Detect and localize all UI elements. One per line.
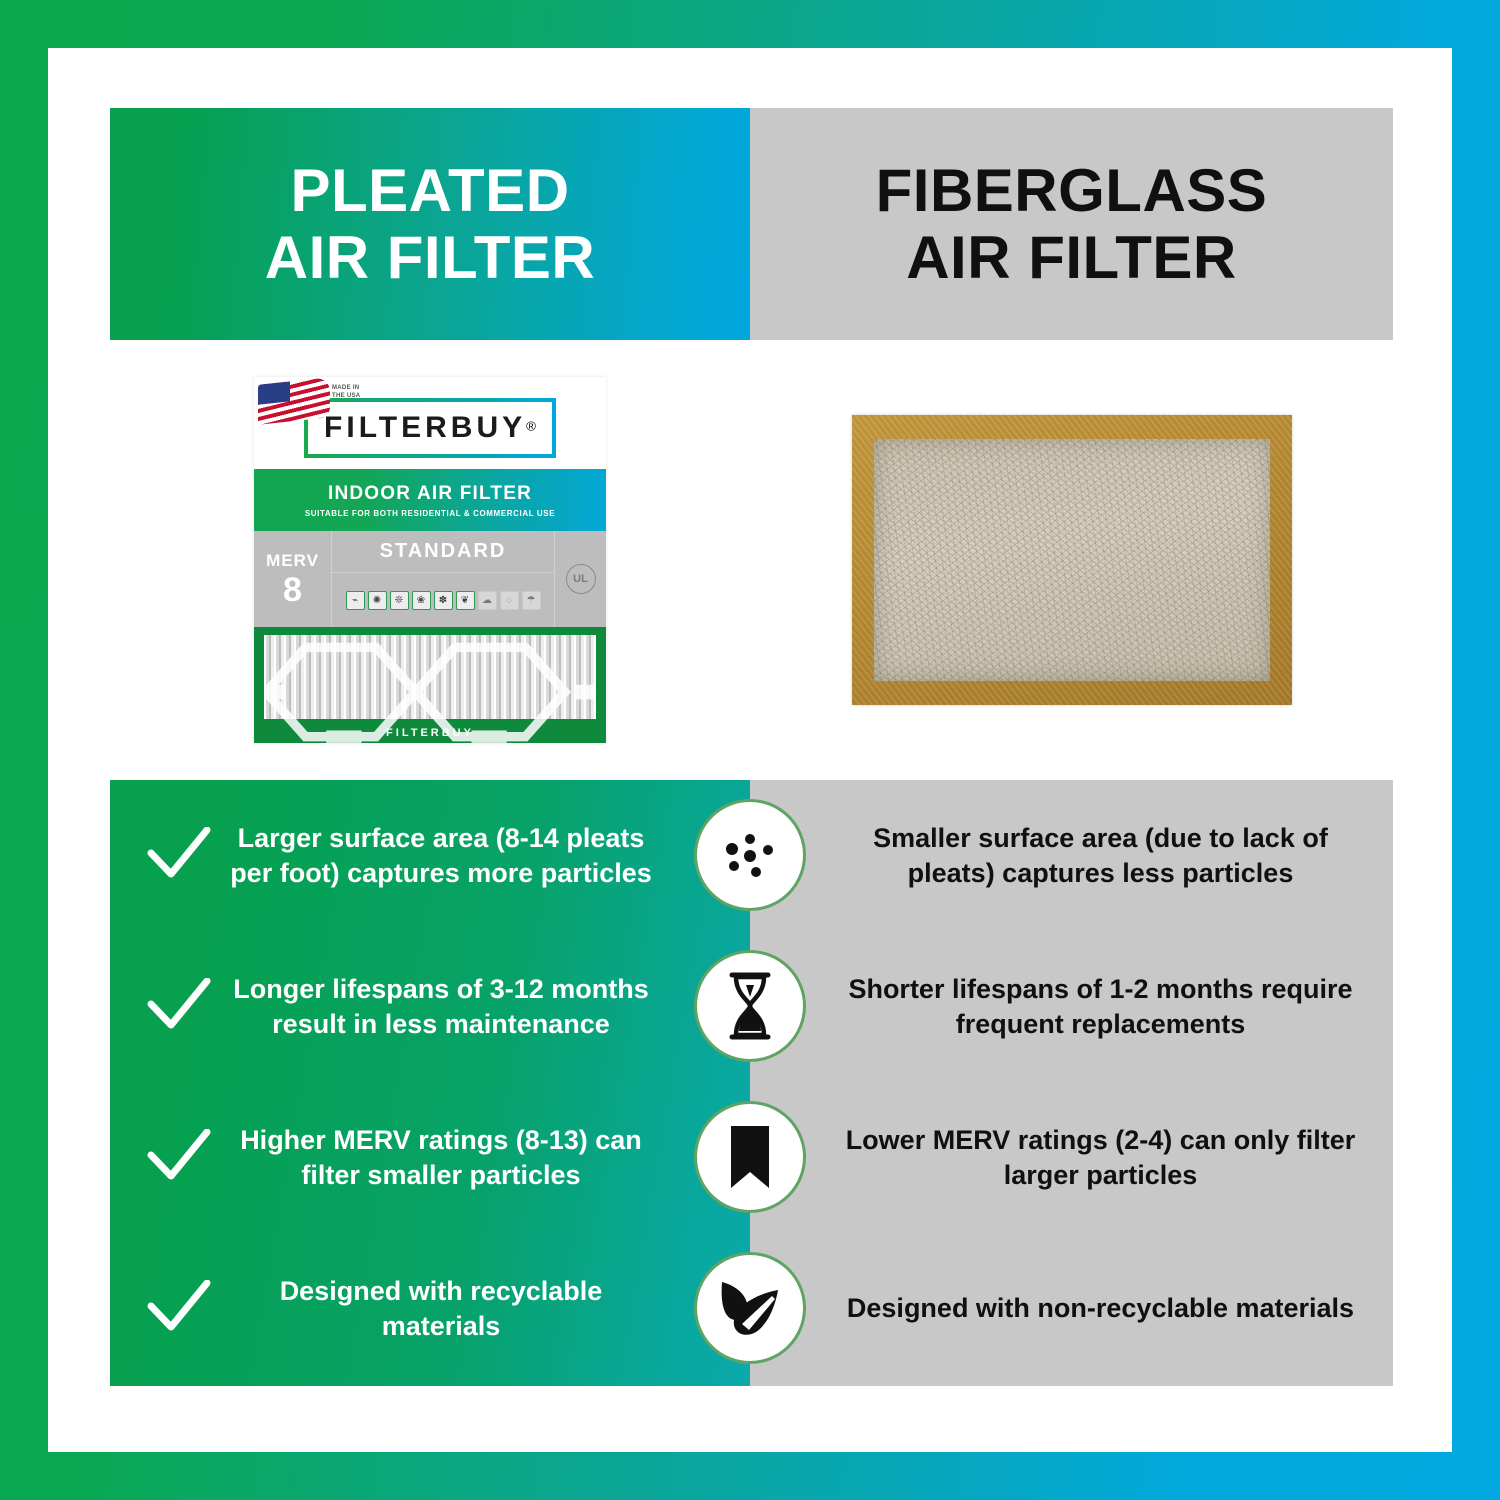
row-right-text: Designed with non-recyclable materials [842, 1291, 1359, 1326]
package-footer-brand: FILTERBUY [254, 727, 606, 739]
row-right-text: Lower MERV ratings (2-4) can only filter… [842, 1123, 1359, 1192]
particles-glyph [718, 827, 782, 883]
particles-icon [694, 799, 806, 911]
checkmark-icon [144, 1280, 214, 1338]
comparison-stage: PLEATED AIR FILTER FIBERGLASS AIR FILTER [110, 108, 1393, 1386]
row-right-text: Smaller surface area (due to lack of ple… [842, 821, 1359, 890]
leaf-icon [694, 1252, 806, 1364]
row-right-cell: Smaller surface area (due to lack of ple… [750, 780, 1393, 931]
hourglass-glyph [724, 971, 776, 1041]
badge-inner [702, 1105, 798, 1209]
hourglass-icon [694, 950, 806, 1062]
bookmark-glyph [727, 1124, 773, 1190]
row-right-cell: Designed with non-recyclable materials [750, 1233, 1393, 1384]
row-right-cell: Shorter lifespans of 1-2 months require … [750, 931, 1393, 1082]
row-left-text: Higher MERV ratings (8-13) can filter sm… [228, 1123, 716, 1192]
badge-inner [702, 803, 798, 907]
row-left-cell: Designed with recyclable materials [110, 1233, 750, 1384]
row-left-text: Longer lifespans of 3-12 months result i… [228, 972, 716, 1041]
badge-inner [702, 954, 798, 1058]
row-left-text: Designed with recyclable materials [228, 1274, 716, 1343]
checkmark-icon [144, 978, 214, 1036]
checkmark-icon [144, 1129, 214, 1187]
comparison-rows: Larger surface area (8-14 pleats per foo… [110, 108, 1393, 714]
leaf-glyph [716, 1276, 784, 1340]
infographic-frame: PLEATED AIR FILTER FIBERGLASS AIR FILTER [0, 0, 1500, 1500]
badge-inner [702, 1256, 798, 1360]
checkmark-icon [144, 827, 214, 885]
row-left-text: Larger surface area (8-14 pleats per foo… [228, 821, 716, 890]
row-left-cell: Larger surface area (8-14 pleats per foo… [110, 780, 750, 931]
row-right-cell: Lower MERV ratings (2-4) can only filter… [750, 1082, 1393, 1233]
row-left-cell: Higher MERV ratings (8-13) can filter sm… [110, 1082, 750, 1233]
bookmark-icon [694, 1101, 806, 1213]
row-right-text: Shorter lifespans of 1-2 months require … [842, 972, 1359, 1041]
row-left-cell: Longer lifespans of 3-12 months result i… [110, 931, 750, 1082]
